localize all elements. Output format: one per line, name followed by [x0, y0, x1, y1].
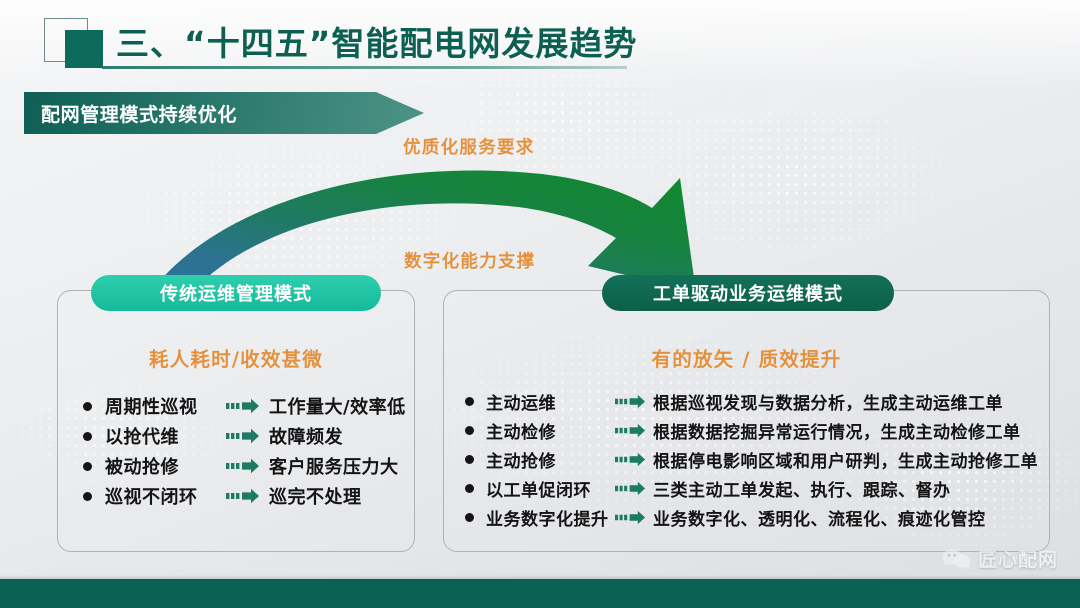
- bullet-icon: [465, 513, 474, 522]
- list-item-term: 主动检修: [486, 423, 556, 443]
- list-item: 业务数字化提升业务数字化、透明化、流程化、痕迹化管控: [444, 503, 1049, 532]
- watermark-text: 匠心配网: [978, 545, 1058, 572]
- workorder-mode-subtitle: 有的放矢 / 质效提升: [444, 343, 1049, 372]
- step-arrow-icon: [615, 481, 646, 496]
- bullet-icon: [465, 455, 474, 464]
- list-item-term: 巡视不闭环: [105, 487, 198, 508]
- list-item-desc: 根据数据挖掘异常运行情况，生成主动检修工单: [653, 418, 1021, 443]
- workorder-mode-pill: 工单驱动业务运维模式: [602, 275, 894, 311]
- list-item: 主动运维根据巡视发现与数据分析，生成主动运维工单: [444, 387, 1049, 416]
- bullet-icon: [83, 462, 92, 471]
- legacy-mode-card: 传统运维管理模式 耗人耗时/收效甚微 周期性巡视工作量大/效率低以抢代维故障频发…: [57, 290, 415, 552]
- step-arrow-icon: [615, 423, 646, 438]
- list-item: 以抢代维故障频发: [58, 421, 414, 451]
- legacy-mode-pill: 传统运维管理模式: [91, 275, 381, 311]
- step-arrow-icon: [226, 428, 260, 444]
- list-item-desc: 客户服务压力大: [269, 453, 399, 479]
- step-arrow-icon: [226, 488, 260, 504]
- list-item: 巡视不闭环巡完不处理: [58, 481, 414, 511]
- list-item-desc: 巡完不处理: [269, 483, 362, 509]
- list-item-term: 以工单促闭环: [486, 481, 591, 501]
- list-item-desc: 根据巡视发现与数据分析，生成主动运维工单: [653, 389, 1003, 414]
- bullet-icon: [465, 397, 474, 406]
- list-item-desc: 故障频发: [269, 423, 343, 449]
- list-item-term: 主动运维: [486, 394, 556, 414]
- list-item-term: 业务数字化提升: [486, 510, 609, 530]
- slide-canvas: 三、“十四五”智能配电网发展趋势 配网管理模式持续优化 优质化服务要求 数字化能…: [0, 0, 1080, 608]
- bullet-icon: [83, 492, 92, 501]
- list-item-term: 被动抢修: [105, 457, 179, 478]
- step-arrow-icon: [615, 394, 646, 409]
- watermark: 匠心配网: [941, 545, 1058, 572]
- list-item: 主动检修根据数据挖掘异常运行情况，生成主动检修工单: [444, 416, 1049, 445]
- step-arrow-icon: [226, 458, 260, 474]
- list-item-desc: 工作量大/效率低: [269, 393, 406, 419]
- workorder-mode-card: 工单驱动业务运维模式 有的放矢 / 质效提升 主动运维根据巡视发现与数据分析，生…: [443, 290, 1050, 552]
- step-arrow-icon: [226, 398, 260, 414]
- bullet-icon: [83, 432, 92, 441]
- list-item: 以工单促闭环三类主动工单发起、执行、跟踪、督办: [444, 474, 1049, 503]
- wechat-icon: [941, 548, 971, 570]
- list-item-desc: 根据停电影响区域和用户研判，生成主动抢修工单: [653, 447, 1038, 472]
- workorder-mode-row-list: 主动运维根据巡视发现与数据分析，生成主动运维工单主动检修根据数据挖掘异常运行情况…: [444, 387, 1049, 532]
- list-item-desc: 三类主动工单发起、执行、跟踪、督办: [653, 476, 951, 501]
- section-banner-label: 配网管理模式持续优化: [41, 100, 237, 127]
- step-arrow-icon: [615, 452, 646, 467]
- list-item-term: 周期性巡视: [105, 397, 198, 418]
- list-item: 周期性巡视工作量大/效率低: [58, 391, 414, 421]
- square-filled-icon: [65, 30, 103, 68]
- bullet-icon: [465, 426, 474, 435]
- step-arrow-icon: [615, 510, 646, 525]
- bullet-icon: [465, 484, 474, 493]
- flow-label-top: 优质化服务要求: [403, 134, 535, 159]
- footer-bar: [0, 579, 1080, 608]
- list-item-term: 以抢代维: [105, 427, 179, 448]
- legacy-mode-row-list: 周期性巡视工作量大/效率低以抢代维故障频发被动抢修客户服务压力大巡视不闭环巡完不…: [58, 391, 414, 511]
- list-item: 主动抢修根据停电影响区域和用户研判，生成主动抢修工单: [444, 445, 1049, 474]
- section-banner: 配网管理模式持续优化: [24, 92, 424, 134]
- list-item: 被动抢修客户服务压力大: [58, 451, 414, 481]
- title-divider: [102, 66, 627, 69]
- list-item-term: 主动抢修: [486, 452, 556, 472]
- page-title: 三、“十四五”智能配电网发展趋势: [116, 17, 637, 65]
- flow-label-bottom: 数字化能力支撑: [404, 248, 536, 273]
- legacy-mode-subtitle: 耗人耗时/收效甚微: [58, 343, 414, 372]
- list-item-desc: 业务数字化、透明化、流程化、痕迹化管控: [653, 505, 986, 530]
- bullet-icon: [83, 402, 92, 411]
